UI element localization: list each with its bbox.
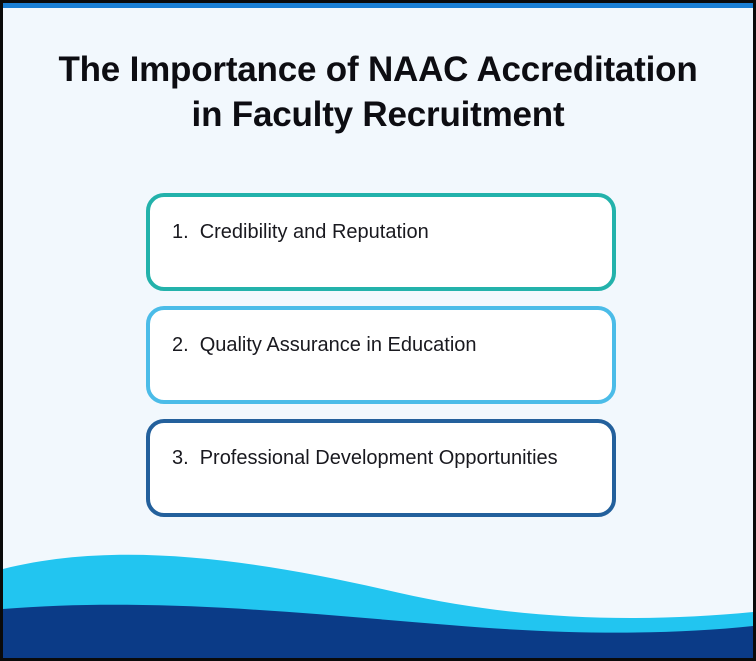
page-title-line-2: in Faculty Recruitment xyxy=(3,92,753,137)
card-list: 1. Credibility and Reputation 2. Quality… xyxy=(146,193,616,532)
list-item-label: Professional Development Opportunities xyxy=(200,444,590,472)
list-item-number: 1. xyxy=(172,218,189,246)
top-accent-bar xyxy=(3,3,753,8)
list-item-quality-assurance[interactable]: 2. Quality Assurance in Education xyxy=(146,306,616,404)
list-item-number: 2. xyxy=(172,331,189,359)
page-title: The Importance of NAAC Accreditation in … xyxy=(3,47,753,137)
list-item-credibility[interactable]: 1. Credibility and Reputation xyxy=(146,193,616,291)
list-item-label: Credibility and Reputation xyxy=(200,218,590,246)
list-item-professional-development[interactable]: 3. Professional Development Opportunitie… xyxy=(146,419,616,517)
slide-canvas: The Importance of NAAC Accreditation in … xyxy=(0,0,756,661)
list-item-number: 3. xyxy=(172,444,189,472)
page-title-line-1: The Importance of NAAC Accreditation xyxy=(3,47,753,92)
bottom-wave-decoration xyxy=(3,523,753,658)
list-item-label: Quality Assurance in Education xyxy=(200,331,590,359)
